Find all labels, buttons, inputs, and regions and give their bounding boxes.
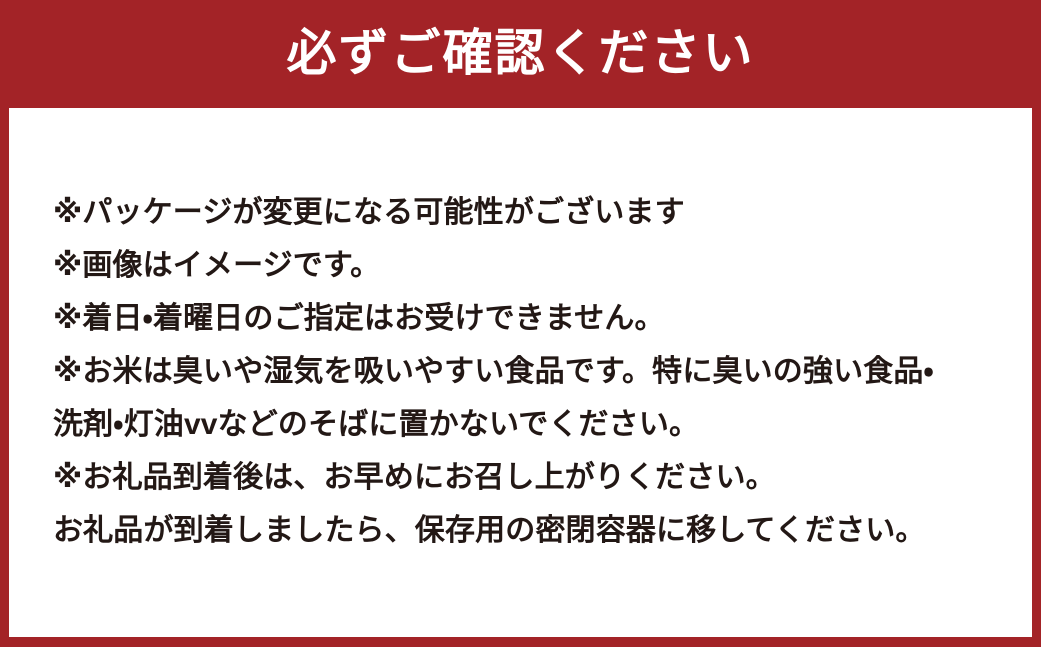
list-item: ※お礼品到着後は、お早めにお召し上がりください。 [53,451,1020,504]
list-item: 洗剤・灯油vvなどのそばに置かないでください。 [53,398,1020,451]
list-item: お礼品が到着しましたら、保存用の密閉容器に移してください。 [53,504,1020,557]
page-title: 必ずご確認ください [287,28,755,80]
notice-header-banner: 必ずご確認ください [0,0,1041,108]
notice-body: ※パッケージが変更になる可能性がございます ※画像はイメージです。 ※着日・着曜… [9,108,1032,637]
list-item: ※着日・着曜日のご指定はお受けできません。 [53,292,1020,345]
notice-list: ※パッケージが変更になる可能性がございます ※画像はイメージです。 ※着日・着曜… [53,186,1020,557]
list-item: ※お米は臭いや湿気を吸いやすい食品です。特に臭いの強い食品・ [53,345,1020,398]
notice-card: 必ずご確認ください ※パッケージが変更になる可能性がございます ※画像はイメージ… [0,0,1041,647]
list-item: ※画像はイメージです。 [53,239,1020,292]
list-item: ※パッケージが変更になる可能性がございます [53,186,1020,239]
